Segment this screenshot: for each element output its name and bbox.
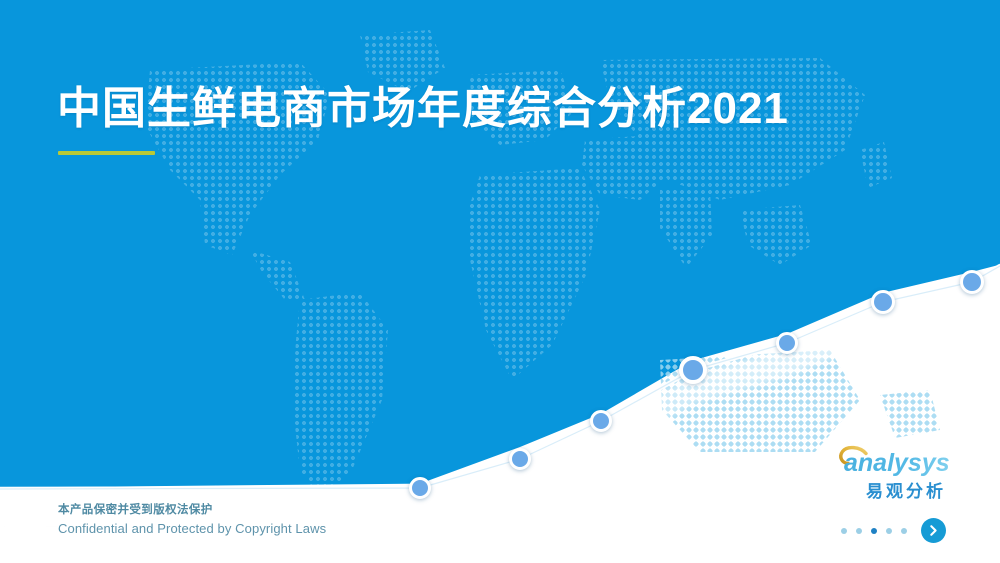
pager-dot-3[interactable]: [871, 528, 877, 534]
chart-marker: [590, 410, 612, 432]
pager-dot-5[interactable]: [901, 528, 907, 534]
chart-marker: [871, 290, 895, 314]
chart-marker: [509, 448, 531, 470]
confidential-notice: 本产品保密并受到版权法保护 Confidential and Protected…: [58, 502, 326, 539]
pager-dot-2[interactable]: [856, 528, 862, 534]
chart-marker: [409, 477, 431, 499]
pager-dot-4[interactable]: [886, 528, 892, 534]
chart-marker: [960, 270, 984, 294]
title-underline-rule: [58, 151, 155, 155]
analysys-logo: analysys 易观分析: [836, 443, 976, 499]
title-slide: 中国生鲜电商市场年度综合分析2021 本产品保密并受到版权法保护 Confide…: [0, 0, 1000, 563]
analysys-name-cn: 易观分析: [836, 477, 976, 502]
analysys-wordmark: analysys: [844, 449, 950, 477]
confidential-notice-cn: 本产品保密并受到版权法保护: [58, 502, 326, 519]
pager[interactable]: [841, 518, 946, 543]
chart-marker: [776, 332, 798, 354]
next-slide-button[interactable]: [921, 518, 946, 543]
confidential-notice-en: Confidential and Protected by Copyright …: [58, 519, 326, 539]
pager-dot-1[interactable]: [841, 528, 847, 534]
page-title: 中国生鲜电商市场年度综合分析2021: [57, 83, 789, 135]
chart-marker: [679, 356, 707, 384]
chevron-right-icon: [927, 524, 940, 537]
